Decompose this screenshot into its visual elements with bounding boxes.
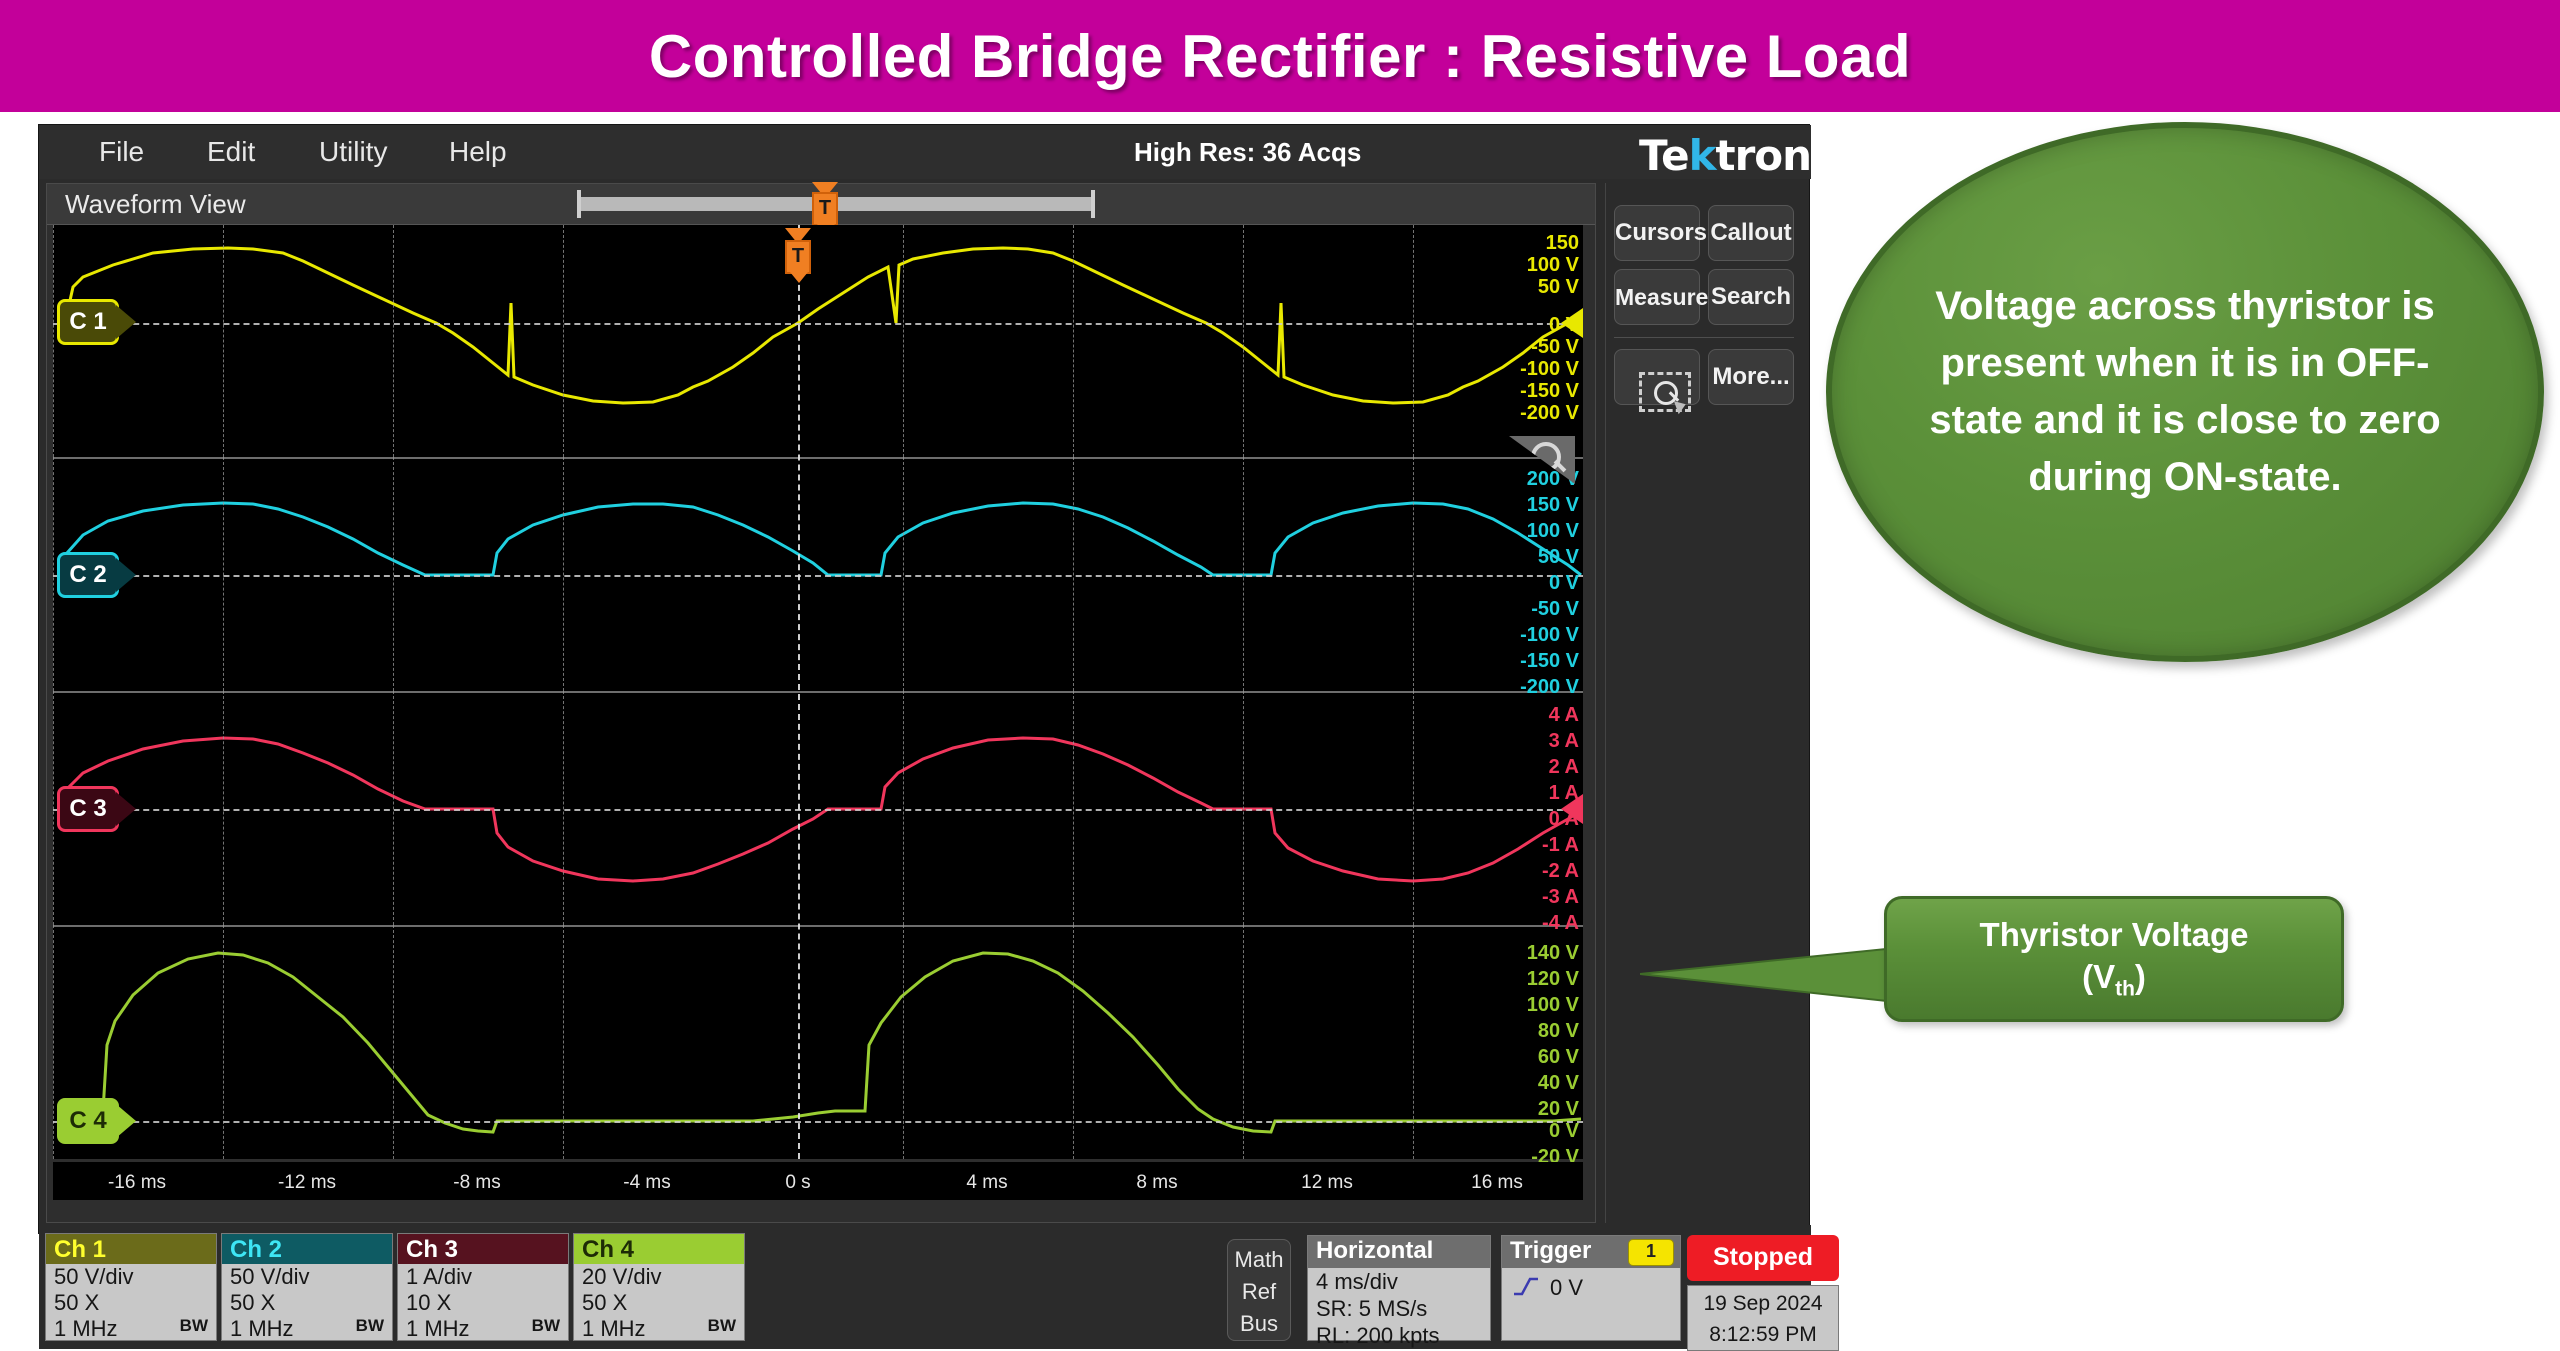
page-title-banner: Controlled Bridge Rectifier : Resistive …	[0, 0, 2560, 112]
side-button-panel: Cursors Callout Measure Search More...	[1605, 183, 1803, 1223]
label-callout-text: Thyristor Voltage (Vth)	[1980, 914, 2249, 1004]
waveform-trace-ch1	[53, 225, 1583, 457]
run-status-button[interactable]: Stopped	[1687, 1235, 1839, 1281]
channel-marker-c3[interactable]: C 3	[57, 786, 119, 832]
channel-card-title-ch2: Ch 2	[222, 1234, 392, 1264]
channel-marker-c1[interactable]: C 1	[57, 299, 119, 345]
menu-bar: File Edit Utility Help High Res: 36 Acqs…	[39, 125, 1811, 179]
time-axis: -16 ms -12 ms -8 ms -4 ms 0 s 4 ms 8 ms …	[53, 1162, 1583, 1200]
channel-card-ch1[interactable]: Ch 1 50 V/div 50 X 1 MHz BW	[45, 1233, 217, 1341]
cursors-button[interactable]: Cursors	[1614, 205, 1700, 261]
channel-card-ch2[interactable]: Ch 2 50 V/div 50 X 1 MHz BW	[221, 1233, 393, 1341]
waveform-view-title: Waveform View	[65, 189, 246, 220]
bandwidth-mark-ch1: BW	[180, 1316, 208, 1336]
callout-button[interactable]: Callout	[1708, 205, 1794, 261]
menu-item-help[interactable]: Help	[449, 136, 507, 168]
trigger-position-marker-top[interactable]: T	[812, 192, 838, 226]
waveform-trace-ch4	[53, 925, 1583, 1159]
bubble-callout: Voltage across thyristor is present when…	[1826, 122, 2544, 662]
channel-marker-c2[interactable]: C 2	[57, 552, 119, 598]
channel-atten-ch2: 50 X	[222, 1290, 392, 1316]
waveform-trace-ch3	[53, 691, 1583, 925]
channel-card-title-ch4: Ch 4	[574, 1234, 744, 1264]
zoom-box-select-button[interactable]	[1614, 349, 1700, 405]
trigger-card[interactable]: Trigger 1 0 V	[1501, 1235, 1681, 1341]
channel-marker-c4[interactable]: C 4	[57, 1098, 119, 1144]
channel-atten-ch4: 50 X	[574, 1290, 744, 1316]
acquisition-status: High Res: 36 Acqs	[1134, 137, 1361, 168]
math-label: Math	[1228, 1244, 1290, 1276]
waveform-view-header: Waveform View T	[47, 184, 1595, 225]
label-callout: Thyristor Voltage (Vth)	[1884, 896, 2344, 1022]
trigger-position-marker[interactable]: T	[785, 240, 811, 274]
channel-atten-ch1: 50 X	[46, 1290, 216, 1316]
horizontal-sample-rate: SR: 5 MS/s	[1308, 1295, 1490, 1322]
channel-card-title-ch3: Ch 3	[398, 1234, 568, 1264]
channel-slice-ch4: C 4 140 V 120 V 100 V 80 V 60 V 40 V 20 …	[53, 925, 1583, 1159]
label-callout-subscript: th	[2115, 978, 2135, 1001]
label-callout-sub-post: )	[2135, 958, 2146, 995]
logo-part-1: Te	[1639, 131, 1689, 180]
channel-slice-ch3: C 3 4 A 3 A 2 A 1 A 0 A -1 A -2 A -3 A -…	[53, 691, 1583, 927]
channel-card-title-ch1: Ch 1	[46, 1234, 216, 1264]
horizontal-title: Horizontal	[1308, 1236, 1490, 1268]
horizontal-scale: 4 ms/div	[1308, 1268, 1490, 1295]
logo-part-2: tronix	[1716, 131, 1851, 180]
channel-scale-ch4: 20 V/div	[574, 1264, 744, 1290]
bandwidth-mark-ch4: BW	[708, 1316, 736, 1336]
ground-marker-ch1[interactable]	[1561, 308, 1583, 338]
page-title: Controlled Bridge Rectifier : Resistive …	[649, 22, 1911, 91]
waveform-trace-ch2	[53, 457, 1583, 691]
bubble-callout-tail	[1940, 630, 2000, 880]
channel-scale-ch2: 50 V/div	[222, 1264, 392, 1290]
bandwidth-mark-ch2: BW	[356, 1316, 384, 1336]
graticule[interactable]: C 1 150 100 V 50 V 0 V -50 V -100 V -150…	[53, 225, 1583, 1159]
bottom-settings-bar: Ch 1 50 V/div 50 X 1 MHz BW Ch 2 50 V/di…	[39, 1225, 1811, 1349]
more-button[interactable]: More...	[1708, 349, 1794, 405]
ground-marker-ch3[interactable]	[1561, 794, 1583, 824]
time-text: 8:12:59 PM	[1688, 1319, 1838, 1350]
menu-item-edit[interactable]: Edit	[207, 136, 255, 168]
channel-atten-ch3: 10 X	[398, 1290, 568, 1316]
search-button[interactable]: Search	[1708, 269, 1794, 325]
oscilloscope-window: File Edit Utility Help High Res: 36 Acqs…	[38, 124, 1810, 1234]
channel-card-ch4[interactable]: Ch 4 20 V/div 50 X 1 MHz BW	[573, 1233, 745, 1341]
menu-item-utility[interactable]: Utility	[319, 136, 387, 168]
channel-scale-ch1: 50 V/div	[46, 1264, 216, 1290]
math-ref-bus-button[interactable]: Math Ref Bus	[1227, 1239, 1291, 1341]
label-callout-main: Thyristor Voltage	[1980, 916, 2249, 953]
date-text: 19 Sep 2024	[1688, 1288, 1838, 1319]
bubble-callout-text: Voltage across thyristor is present when…	[1924, 278, 2446, 505]
tektronix-logo: Tektronix	[1639, 131, 1851, 180]
label-callout-sub-pre: (V	[2082, 958, 2115, 995]
zoom-box-select-icon	[1639, 372, 1691, 412]
trigger-source-badge[interactable]: 1	[1628, 1239, 1674, 1266]
horizontal-card[interactable]: Horizontal 4 ms/div SR: 5 MS/s RL: 200 k…	[1307, 1235, 1491, 1341]
channel-scale-ch3: 1 A/div	[398, 1264, 568, 1290]
horizontal-record-length: RL: 200 kpts	[1308, 1322, 1490, 1349]
channel-slice-ch1: C 1 150 100 V 50 V 0 V -50 V -100 V -150…	[53, 225, 1583, 459]
channel-slice-ch2: C 2 200 V 150 V 100 V 50 V 0 V -50 V -10…	[53, 457, 1583, 693]
measure-button[interactable]: Measure	[1614, 269, 1700, 325]
label-callout-tail	[1640, 944, 1896, 1006]
channel-card-ch3[interactable]: Ch 3 1 A/div 10 X 1 MHz BW	[397, 1233, 569, 1341]
datetime-display: 19 Sep 2024 8:12:59 PM	[1687, 1285, 1839, 1351]
bus-label: Bus	[1228, 1308, 1290, 1340]
waveform-view: Waveform View T C 1	[46, 183, 1596, 1223]
ref-label: Ref	[1228, 1276, 1290, 1308]
rising-edge-icon	[1512, 1276, 1540, 1296]
menu-item-file[interactable]: File	[99, 136, 144, 168]
trigger-time-line	[798, 225, 800, 1159]
logo-slash: k	[1689, 131, 1716, 180]
bandwidth-mark-ch3: BW	[532, 1316, 560, 1336]
